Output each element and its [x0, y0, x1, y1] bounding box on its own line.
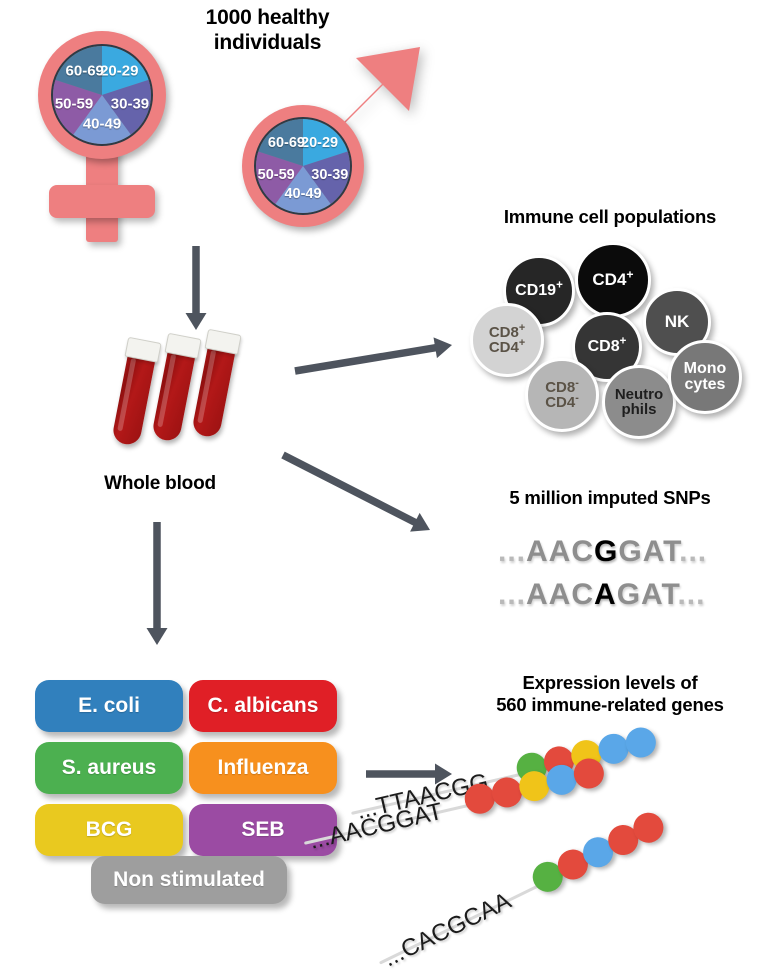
pie-label-20-29: 20-29 — [301, 135, 338, 151]
snp-sequence-row: ...AACGGAT... — [498, 535, 707, 569]
pie-label-30-39: 30-39 — [311, 167, 348, 183]
immune-cell-neutro-phils: Neutrophils — [602, 365, 676, 439]
stimulation-label: Influenza — [217, 756, 308, 780]
snp-left-bases: AAC — [526, 578, 594, 611]
stimulation-label: E. coli — [78, 694, 140, 718]
male-age-pie: 20-2930-3940-4950-5960-69 — [254, 117, 352, 215]
pie-label-40-49: 40-49 — [284, 186, 321, 202]
snp-right-bases: GAT — [618, 535, 679, 568]
immune-cell-cd8-cd4: CD8+CD4+ — [470, 303, 544, 377]
snp-left-bases: AAC — [526, 535, 594, 568]
snp-right-bases: GAT — [617, 578, 678, 611]
stimulation-label: S. aureus — [62, 756, 157, 780]
stimulation-influenza[interactable]: Influenza — [189, 742, 337, 794]
snp-prefix-ellipsis: ... — [498, 535, 526, 568]
stimulation-label: C. albicans — [208, 694, 319, 718]
stimulation-label: SEB — [241, 818, 284, 842]
snp-suffix-ellipsis: ... — [679, 535, 707, 568]
stimulation-label: BCG — [86, 818, 133, 842]
snp-variant-base: A — [594, 578, 617, 611]
snp-variant-base: G — [594, 535, 618, 568]
stimulation-bcg[interactable]: BCG — [35, 804, 183, 856]
stimulation-s-aureus[interactable]: S. aureus — [35, 742, 183, 794]
figure-canvas: 1000 healthy individualsImmune cell popu… — [0, 0, 771, 922]
immune-cell-mono-cytes: Monocytes — [668, 340, 742, 414]
immune-cell-cd8-cd4: CD8-CD4- — [525, 358, 599, 432]
stimulation-label: Non stimulated — [113, 868, 265, 892]
stimulation-c-albicans[interactable]: C. albicans — [189, 680, 337, 732]
snp-sequence-row: ...AACAGAT... — [498, 578, 705, 612]
immune-cell-cd4: CD4+ — [575, 242, 651, 318]
snp-prefix-ellipsis: ... — [498, 578, 526, 611]
pie-label-50-59: 50-59 — [258, 167, 295, 183]
pie-label-60-69: 60-69 — [268, 135, 305, 151]
snp-suffix-ellipsis: ... — [677, 578, 705, 611]
stimulation-non-stimulated[interactable]: Non stimulated — [91, 856, 287, 904]
stimulation-e-coli[interactable]: E. coli — [35, 680, 183, 732]
